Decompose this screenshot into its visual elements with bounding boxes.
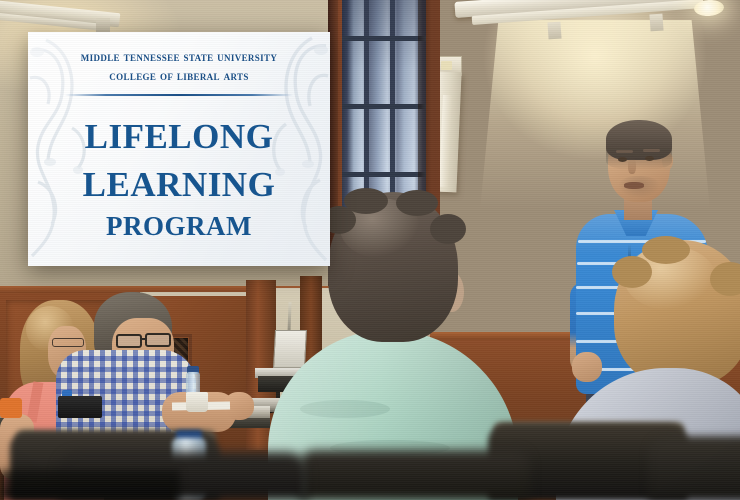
window-mullion-horizontal <box>342 104 426 109</box>
sconce-light-spill <box>480 20 710 210</box>
poster-university-line: Middle Tennessee State University <box>46 48 312 66</box>
hair-tuft <box>396 190 438 216</box>
hair-tuft <box>612 256 652 288</box>
photograph-classroom-scene: Middle Tennessee State University Colleg… <box>0 0 740 500</box>
speaker-presenter-eye <box>645 156 654 161</box>
poster-divider-rule <box>65 94 293 96</box>
speaker-presenter-nose <box>628 158 636 174</box>
chair-back-foreground <box>648 436 740 500</box>
poster-title-line-1: Lifelong <box>46 108 312 154</box>
poster-title-line-2: Learning <box>46 156 312 202</box>
window-mullion-horizontal <box>342 172 426 177</box>
poster-college-line: College of Liberal Arts <box>46 67 312 86</box>
desk-device <box>58 396 102 418</box>
sconce-bracket <box>96 18 110 32</box>
speaker-presenter-hand-left <box>572 352 602 382</box>
wall-speaker-bracket-plate <box>441 61 452 70</box>
laptop-screen <box>273 330 307 368</box>
window-mullion-horizontal <box>342 36 426 41</box>
poster-content: Middle Tennessee State University Colleg… <box>28 32 330 241</box>
sconce-bracket <box>547 22 561 40</box>
hair-tuft <box>430 214 466 244</box>
speaker-presenter-eyebrow <box>643 149 660 152</box>
hair-tuft <box>642 236 690 264</box>
sconce-bracket <box>649 14 663 32</box>
speaker-presenter-mouth <box>624 182 644 189</box>
lifelong-learning-program-poster: Middle Tennessee State University Colleg… <box>28 32 330 266</box>
poster-title-line-3: Program <box>46 206 312 241</box>
cup <box>186 392 208 412</box>
attendee-coral-top-glasses-icon <box>52 338 84 347</box>
chair-back-foreground <box>300 450 530 500</box>
attendee-plaid-shirt-glasses-icon <box>116 334 142 348</box>
attendee-plaid-shirt-glasses-bridge <box>141 338 147 340</box>
foreground-shadow <box>0 470 180 500</box>
hair-tuft <box>344 188 388 214</box>
orange-object <box>0 398 22 418</box>
attendee-plaid-shirt-glasses-icon <box>145 333 171 347</box>
speaker-presenter-eye <box>618 157 627 162</box>
speaker-presenter-eyebrow <box>616 150 633 153</box>
